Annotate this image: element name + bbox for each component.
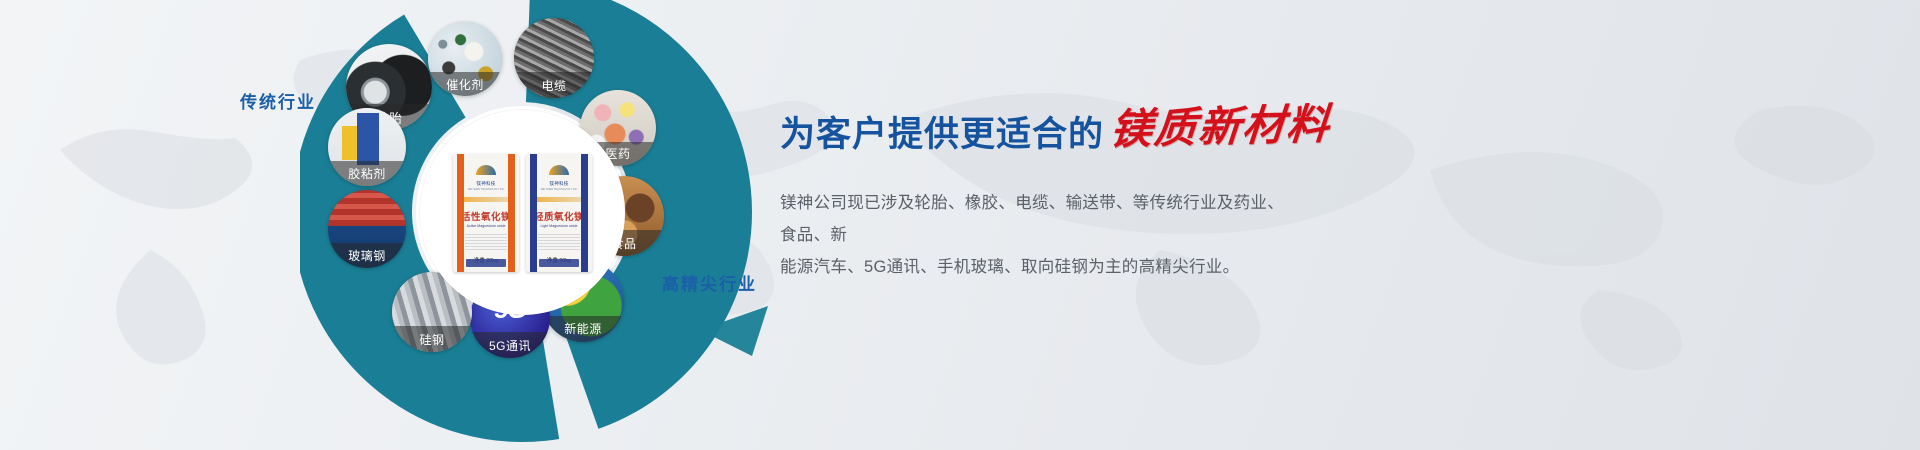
bag-product-name-en: Light Magnesium oxide <box>541 224 578 228</box>
headline-lead: 为客户提供更适合的 <box>780 106 1104 157</box>
bag-spec-text <box>465 234 507 251</box>
node-adhesive[interactable]: 胶粘剂 <box>328 108 406 186</box>
tag-advanced-industries: 高精尖行业 <box>662 270 757 295</box>
headline: 为客户提供更适合的 镁质新材料 <box>780 96 1480 157</box>
bag-brand: 镁神科技 <box>549 181 568 187</box>
body-copy-line-1: 镁神公司现已涉及轮胎、橡胶、电缆、输送带、等传统行业及药业、食品、新 <box>780 187 1300 251</box>
body-copy-line-2: 能源汽车、5G通讯、手机玻璃、取向硅钢为主的高精尖行业。 <box>780 251 1300 283</box>
product-bag-active-mgo: 镁神科技 MEI SHEN TECHNOLOGY INC 活性氧化镁 Activ… <box>453 154 519 272</box>
bag-side-stripe-left <box>530 154 537 272</box>
bag-product-name: 活性氧化镁 <box>461 209 511 223</box>
bag-strip <box>463 197 509 202</box>
bag-brand-en: MEI SHEN TECHNOLOGY INC <box>541 188 578 191</box>
node-frp-label: 玻璃钢 <box>328 243 406 268</box>
brand-logo-icon <box>542 165 576 181</box>
bag-product-name: 轻质氧化镁 <box>534 209 584 223</box>
node-adhesive-label: 胶粘剂 <box>328 161 406 186</box>
node-frp[interactable]: 玻璃钢 <box>328 190 406 268</box>
headline-accent: 镁质新材料 <box>1108 90 1333 157</box>
node-cable[interactable]: 电缆 <box>514 18 594 98</box>
body-copy: 镁神公司现已涉及轮胎、橡胶、电缆、输送带、等传统行业及药业、食品、新 能源汽车、… <box>780 187 1300 283</box>
bag-product-name-en: Active Magnesium oxide <box>467 224 506 228</box>
bag-side-stripe-left <box>457 154 464 272</box>
tag-traditional-industries: 传统行业 <box>240 88 316 113</box>
industry-wheel-diagram: 催化剂 轮胎 电缆 医药 食品 新能源 5G 5G通讯 硅钢 玻璃钢 胶粘剂 <box>300 0 820 450</box>
brand-logo-icon <box>469 165 503 181</box>
bag-spec-text <box>538 234 580 251</box>
bag-side-stripe-right <box>581 154 588 272</box>
node-catalyst-label: 催化剂 <box>428 72 502 96</box>
node-new-energy-label: 新能源 <box>542 316 624 342</box>
node-5g-label: 5G通讯 <box>470 332 550 358</box>
center-product-disc: 镁神科技 MEI SHEN TECHNOLOGY INC 活性氧化镁 Activ… <box>420 110 625 315</box>
bag-brand-en: MEI SHEN TECHNOLOGY INC <box>468 188 505 191</box>
copy-block: 为客户提供更适合的 镁质新材料 镁神公司现已涉及轮胎、橡胶、电缆、输送带、等传统… <box>780 96 1480 283</box>
bag-brand: 镁神科技 <box>476 181 495 187</box>
bag-footer-band <box>539 259 579 267</box>
product-bag-light-mgo: 镁神科技 MEI SHEN TECHNOLOGY INC 轻质氧化镁 Light… <box>526 154 592 272</box>
node-catalyst[interactable]: 催化剂 <box>428 22 502 96</box>
node-silicon-steel-label: 硅钢 <box>392 326 472 352</box>
bag-strip <box>536 197 582 202</box>
bag-side-stripe-right <box>508 154 515 272</box>
bag-footer-band <box>466 259 506 267</box>
